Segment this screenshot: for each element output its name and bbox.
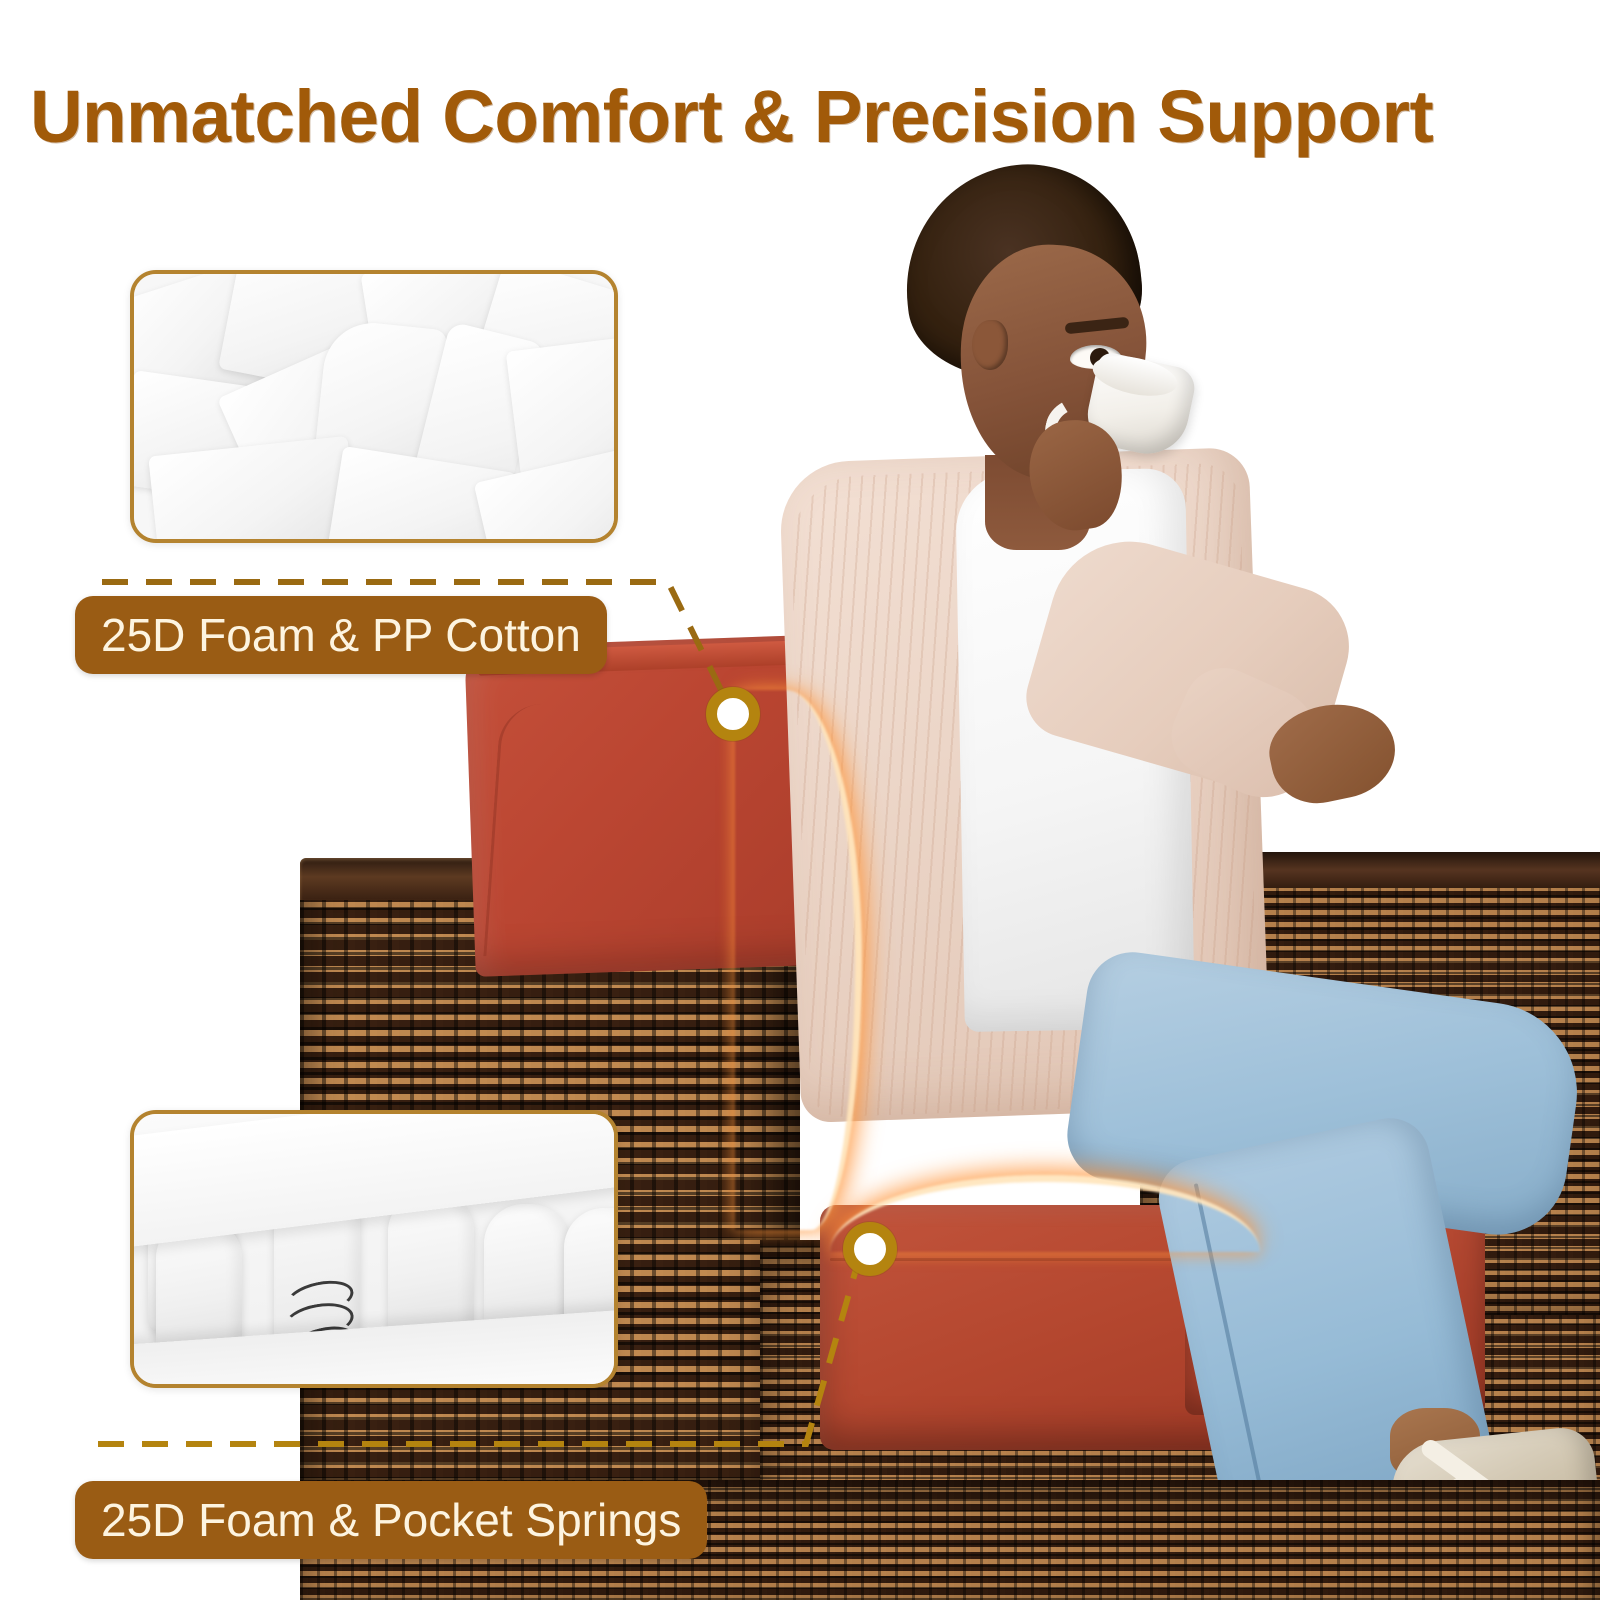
inset-foam-photo [130,270,618,543]
page-title: Unmatched Comfort & Precision Support [30,80,1557,154]
infographic-canvas: Unmatched Comfort & Precision Support [0,0,1600,1600]
callout-dot-seat-cushion [843,1222,897,1276]
callout-dot-back-cushion [706,687,760,741]
callout-label-foam-pp-cotton: 25D Foam & PP Cotton [75,596,607,674]
ear [972,320,1008,370]
callout-label-text: 25D Foam & PP Cotton [101,612,581,658]
callout-label-foam-pocket-springs: 25D Foam & Pocket Springs [75,1481,707,1559]
pocket-springs-texture [134,1114,614,1384]
inset-pocket-springs-photo [130,1110,618,1388]
back-cushion-seam [483,694,833,956]
foam-chunks-texture [134,274,614,539]
callout-label-text: 25D Foam & Pocket Springs [101,1497,681,1543]
